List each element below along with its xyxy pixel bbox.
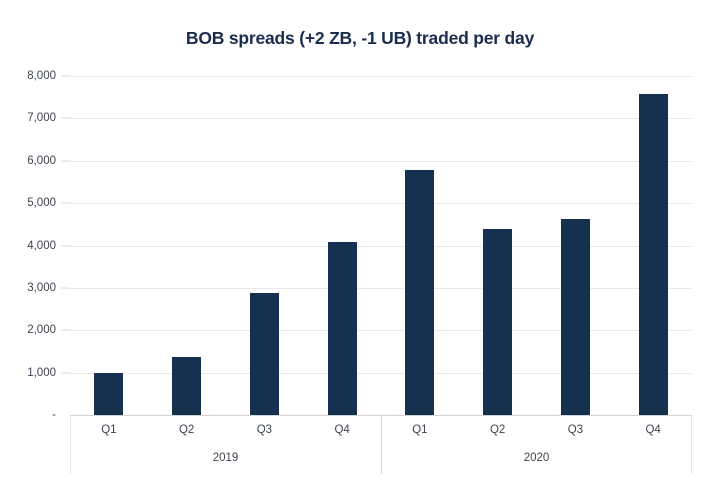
- y-axis-tick: [61, 76, 70, 77]
- x-axis-group-label: 2019: [213, 452, 239, 464]
- x-axis-band-edge: [70, 416, 71, 474]
- y-axis-tick-label: 6,000: [27, 155, 56, 167]
- x-axis-category-label: Q4: [645, 424, 660, 436]
- y-axis-tick-label: -: [52, 409, 56, 421]
- bar[interactable]: [328, 242, 357, 415]
- x-axis-category-label: Q3: [568, 424, 583, 436]
- x-axis-category-label: Q3: [257, 424, 272, 436]
- bar-chart: BOB spreads (+2 ZB, -1 UB) traded per da…: [0, 0, 720, 500]
- y-axis: 8,0007,0006,0005,0004,0003,0002,0001,000…: [0, 76, 70, 421]
- x-axis-category-label: Q2: [490, 424, 505, 436]
- bar[interactable]: [639, 94, 668, 415]
- x-axis-category-label: Q2: [179, 424, 194, 436]
- x-axis-band-edge: [691, 416, 692, 474]
- bar[interactable]: [250, 293, 279, 415]
- x-axis-group-label: 2020: [524, 452, 550, 464]
- y-axis-tick: [61, 330, 70, 331]
- x-axis-category-label: Q1: [101, 424, 116, 436]
- y-axis-tick: [61, 372, 70, 373]
- plot-area: [70, 76, 692, 415]
- y-axis-tick: [61, 118, 70, 119]
- bar[interactable]: [172, 357, 201, 415]
- x-axis-category-label: Q1: [412, 424, 427, 436]
- y-axis-tick: [61, 203, 70, 204]
- y-axis-tick-label: 5,000: [27, 197, 56, 209]
- y-axis-tick-label: 1,000: [27, 367, 56, 379]
- y-axis-tick-label: 8,000: [27, 70, 56, 82]
- bar[interactable]: [561, 219, 590, 415]
- x-axis-group-divider: [381, 416, 382, 474]
- bar[interactable]: [94, 373, 123, 415]
- x-axis-categories: Q1Q2Q3Q4Q1Q2Q3Q420192020: [70, 416, 692, 476]
- chart-title: BOB spreads (+2 ZB, -1 UB) traded per da…: [0, 28, 720, 49]
- y-axis-tick: [61, 160, 70, 161]
- y-axis-tick: [61, 245, 70, 246]
- x-axis-category-label: Q4: [334, 424, 349, 436]
- bar[interactable]: [405, 170, 434, 415]
- y-axis-tick-label: 2,000: [27, 324, 56, 336]
- y-axis-tick-label: 7,000: [27, 112, 56, 124]
- bar-series: [70, 76, 692, 415]
- bar[interactable]: [483, 229, 512, 415]
- y-axis-tick-label: 4,000: [27, 240, 56, 252]
- y-axis-tick: [61, 287, 70, 288]
- y-axis-tick-label: 3,000: [27, 282, 56, 294]
